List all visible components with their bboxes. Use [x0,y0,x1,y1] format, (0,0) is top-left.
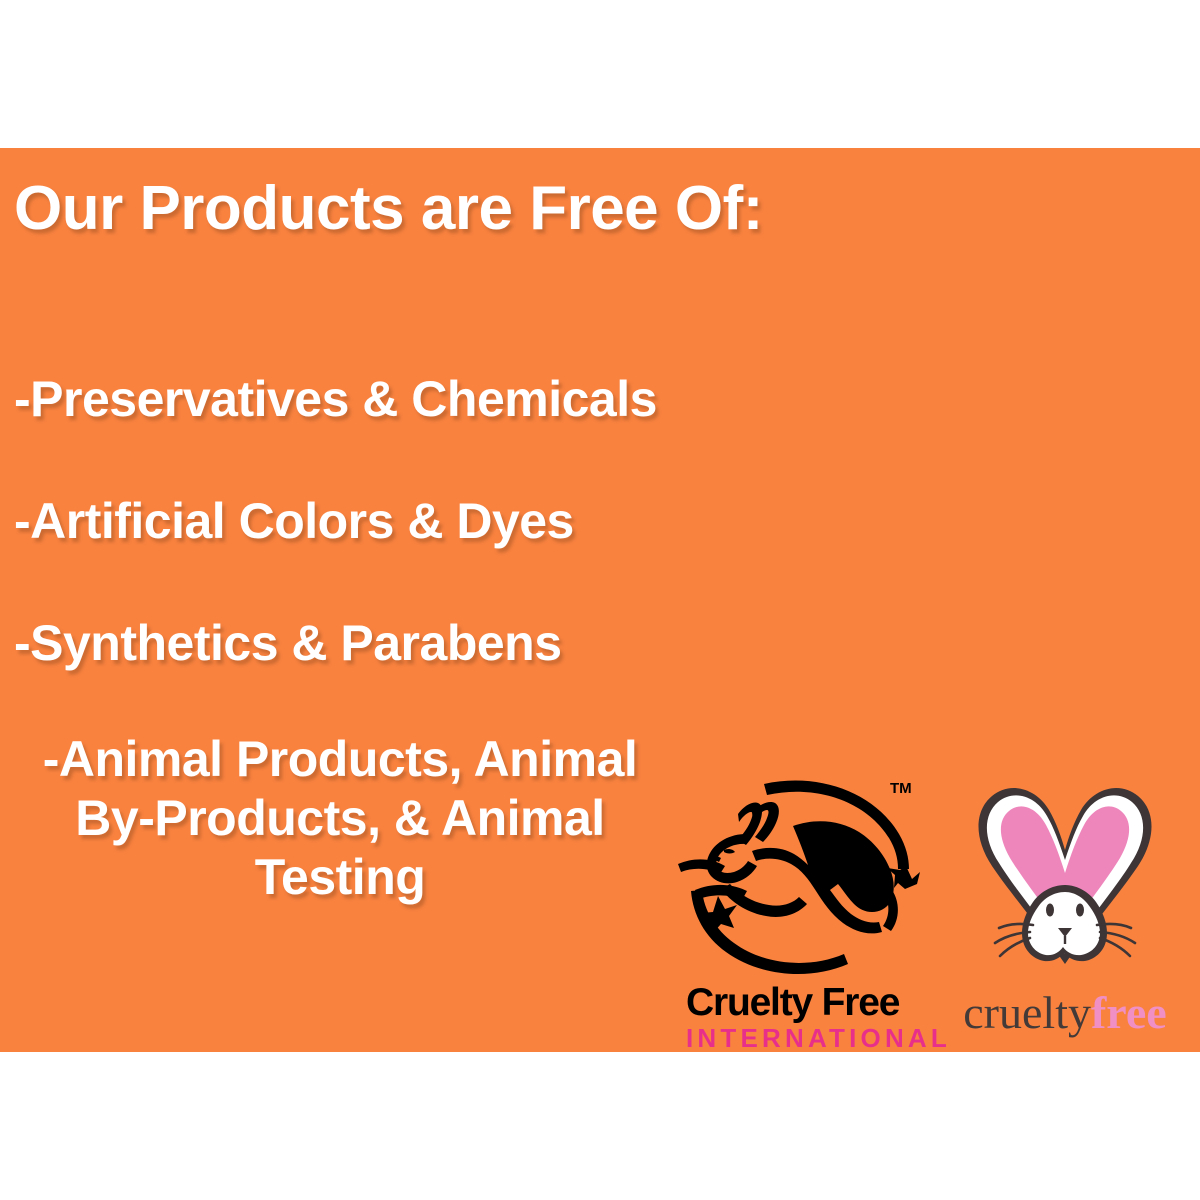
bullet-line-2: By-Products, & Animal [14,789,666,848]
page-title: Our Products are Free Of: [14,176,763,241]
cf-wordmark-cruelty: cruelty [963,987,1091,1038]
cruelty-free-international-wordmark: Cruelty Free INTERNATIONAL [686,983,912,1052]
cruelty-free-wordmark: crueltyfree [930,990,1200,1036]
bullet-item-artificial-colors: -Artificial Colors & Dyes [14,492,574,551]
heart-eared-bunny-icon [930,768,1200,988]
cfi-wordmark-main: Cruelty Free [686,983,912,1022]
bullet-line-3: Testing [14,848,666,907]
orange-poster-band: Our Products are Free Of: -Preservatives… [0,148,1200,1052]
certification-logos: TM Cruelty Free INTERNATIONAL [668,768,1200,1052]
bunny-left-eye [1046,904,1054,917]
cfi-wordmark-sub: INTERNATIONAL [686,1024,912,1052]
trademark-symbol: TM [890,780,912,797]
bunny-right-eye [1076,904,1084,917]
cruelty-free-bunny-logo: crueltyfree [930,768,1200,988]
bullet-item-animal-products: -Animal Products, Animal By-Products, & … [14,730,666,907]
bullet-item-synthetics: -Synthetics & Parabens [14,614,562,673]
bullet-item-preservatives: -Preservatives & Chemicals [14,370,657,429]
bullet-line-1: -Animal Products, Animal [14,730,666,789]
leaping-rabbit-in-circle-icon: TM [668,768,920,980]
cf-wordmark-free: free [1091,987,1167,1038]
cruelty-free-international-logo: TM Cruelty Free INTERNATIONAL [668,768,920,980]
poster-canvas: Our Products are Free Of: -Preservatives… [0,0,1200,1200]
